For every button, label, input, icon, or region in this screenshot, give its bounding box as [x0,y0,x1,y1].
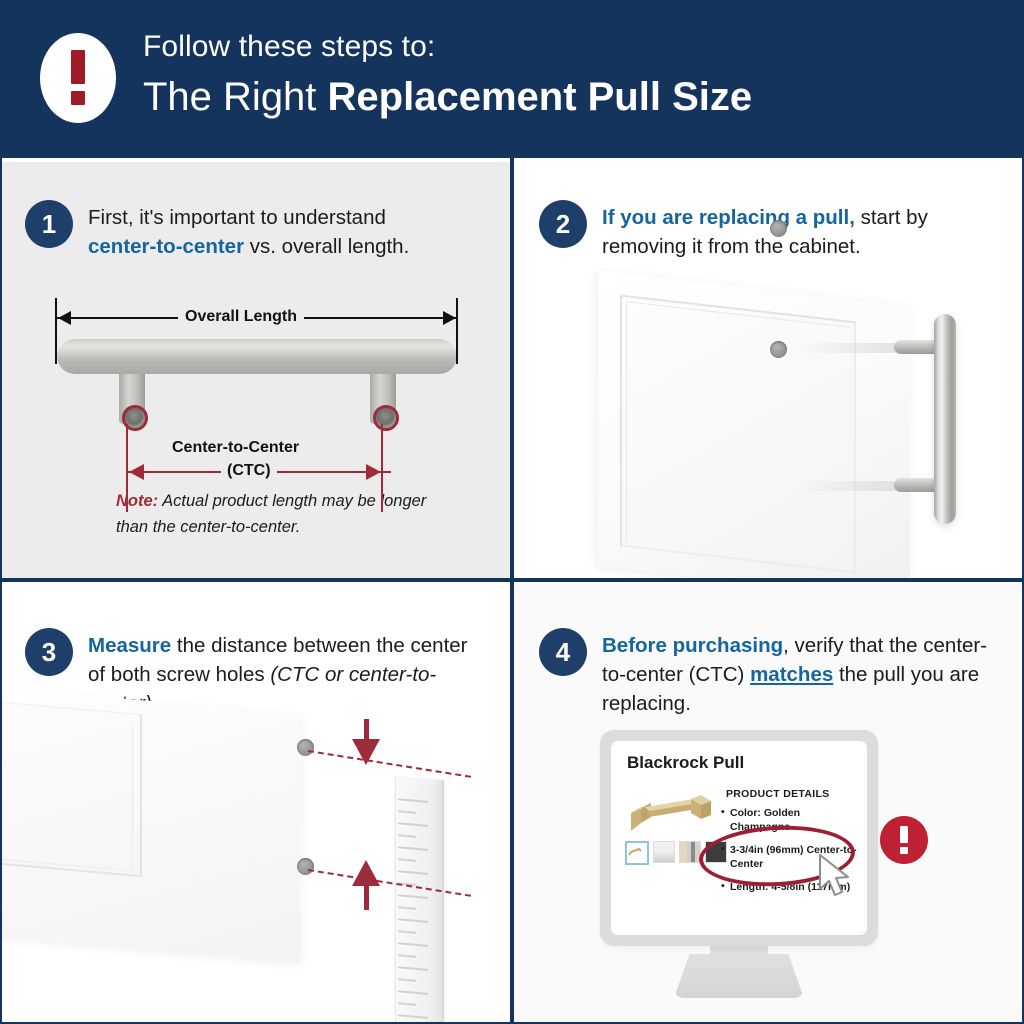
screw-hole-top [770,220,787,237]
horizontal-divider [0,578,1024,582]
arrow-down-head [352,739,380,765]
alert-exclamation-icon [40,33,116,123]
cabinet-door-panel-bevel [626,301,850,567]
product-title: Blackrock Pull [627,753,744,773]
page-header: Follow these steps to: The Right Replace… [0,0,1024,158]
ctc-label: Center-to-Center [172,439,299,457]
header-eyebrow: Follow these steps to: [143,30,435,64]
screw-hole-bottom [770,341,787,358]
thumbnail-pull-icon [627,843,643,859]
monitor-bezel: Blackrock Pull [600,730,878,946]
panel-1-note: Note: Actual product length may be longe… [116,488,456,540]
product-thumbnail-1[interactable] [625,841,649,865]
page-title: The Right Replacement Pull Size [143,75,752,120]
mouse-pointer-icon [816,853,856,901]
arrow-up-head [352,860,380,886]
pull-screw-hole-right [373,405,399,431]
overall-length-arrow-left [58,311,71,325]
product-details-heading: PRODUCT DETAILS [726,788,829,800]
note-prefix: Note: [116,492,158,510]
monitor-stand-base [674,954,804,998]
pull-motion-trail-bottom [799,481,899,491]
overall-length-tick-right [456,298,458,364]
step-badge-2: 2 [539,200,587,248]
step-2-text: If you are replacing a pull, start by re… [602,203,932,261]
panel-step-1: 1 First, it's important to understand ce… [0,162,510,578]
ctc-guide-right [381,424,383,512]
product-thumbnail-2[interactable] [653,841,675,863]
monitor-stand-neck [710,946,768,958]
page-title-bold: Replacement Pull Size [328,75,753,119]
product-image [625,785,713,837]
step-4-link[interactable]: matches [750,663,833,686]
cabinet-door [598,270,910,578]
pull-bar [57,338,457,374]
step-4-text: Before purchasing, verify that the cente… [602,631,1002,718]
pull-motion-trail-top [799,343,899,353]
ctc-abbrev-label: (CTC) [221,462,277,480]
ctc-arrow-right [366,464,381,480]
ctc-arrow-left [129,464,144,480]
product-thumbnail-3[interactable] [679,841,701,863]
overall-length-label: Overall Length [178,308,304,326]
overall-length-arrow-right [443,311,456,325]
left-border [0,158,2,1024]
measure-arrows [0,584,510,1024]
step-4-highlight: Before purchasing [602,634,783,657]
panel-step-4: 4 Before purchasing, verify that the cen… [514,584,1024,1024]
bar-pull-diagram: Overall Length Center-to-Center (CTC) No… [0,162,510,578]
overall-length-tick-left [55,298,57,364]
panel-step-3: 3 Measure the distance between the cente… [0,584,510,1024]
alert-exclamation-icon [880,816,928,864]
ctc-guide-left [126,424,128,512]
arrow-up-stem [364,886,369,910]
panel-step-2: 2 If you are replacing a pull, start by … [514,162,1024,578]
step-2-highlight: If you are replacing a pull, [602,206,855,229]
step-badge-4: 4 [539,628,587,676]
infographic-page: Follow these steps to: The Right Replace… [0,0,1024,1024]
vertical-divider [510,158,514,1024]
product-page-screen: Blackrock Pull [611,741,867,935]
note-body: Actual product length may be longer than… [116,492,426,536]
pull-product-illustration [625,785,713,837]
page-title-light: The Right [143,75,328,119]
bar-pull-handle [934,314,956,524]
